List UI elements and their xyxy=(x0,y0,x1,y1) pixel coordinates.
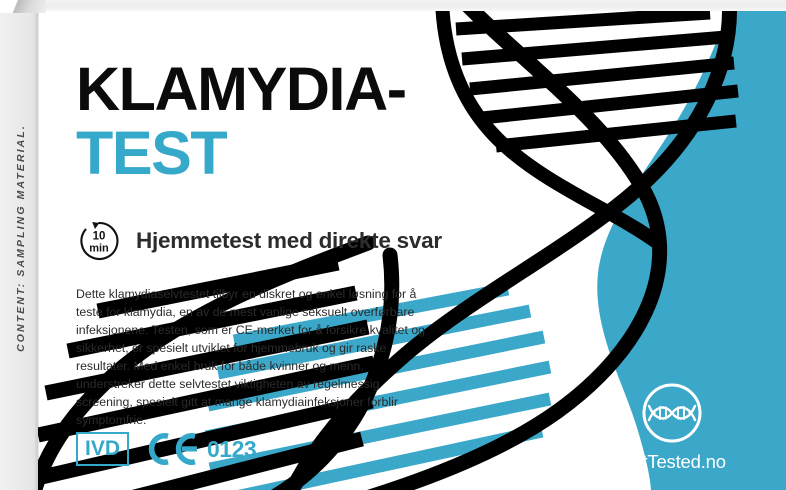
product-description: Dette klamydiaselvtestet tilbyr en diskr… xyxy=(76,285,436,430)
subheadline-row: 10 min Hjemmetest med direkte svar xyxy=(76,218,442,264)
dna-helix-circle-icon xyxy=(639,380,705,446)
ivd-mark: IVD xyxy=(76,432,129,466)
brand-name-text: GetTested.no xyxy=(592,452,752,472)
box-front-face: KLAMYDIA- TEST 10 min Hjemmetest med dir… xyxy=(38,11,786,490)
timer-unit: min xyxy=(89,243,109,255)
spine-content-label: CONTENT: SAMPLING MATERIAL. xyxy=(15,3,27,473)
product-description-text: Dette klamydiaselvtestet tilbyr en diskr… xyxy=(76,285,436,430)
product-title-line-2: TEST xyxy=(76,125,406,183)
timer-badge-icon: 10 min xyxy=(76,218,122,264)
box-top-face xyxy=(38,0,786,11)
subheadline-text: Hjemmetest med direkte svar xyxy=(136,228,442,254)
product-box-image: CONTENT: SAMPLING MATERIAL. xyxy=(0,0,786,490)
ce-mark-icon xyxy=(145,432,207,466)
product-title-line-1: KLAMYDIA- xyxy=(76,61,406,119)
timer-value: 10 xyxy=(93,231,106,243)
product-title: KLAMYDIA- TEST xyxy=(76,61,406,183)
ce-notified-body-number: 0123 xyxy=(207,436,256,463)
front-face-content: KLAMYDIA- TEST 10 min Hjemmetest med dir… xyxy=(38,11,786,490)
brand-logo: GetTested.no xyxy=(592,380,752,472)
ce-mark-group: 0123 xyxy=(145,432,256,466)
regulatory-marks: IVD 0123 xyxy=(76,432,256,466)
